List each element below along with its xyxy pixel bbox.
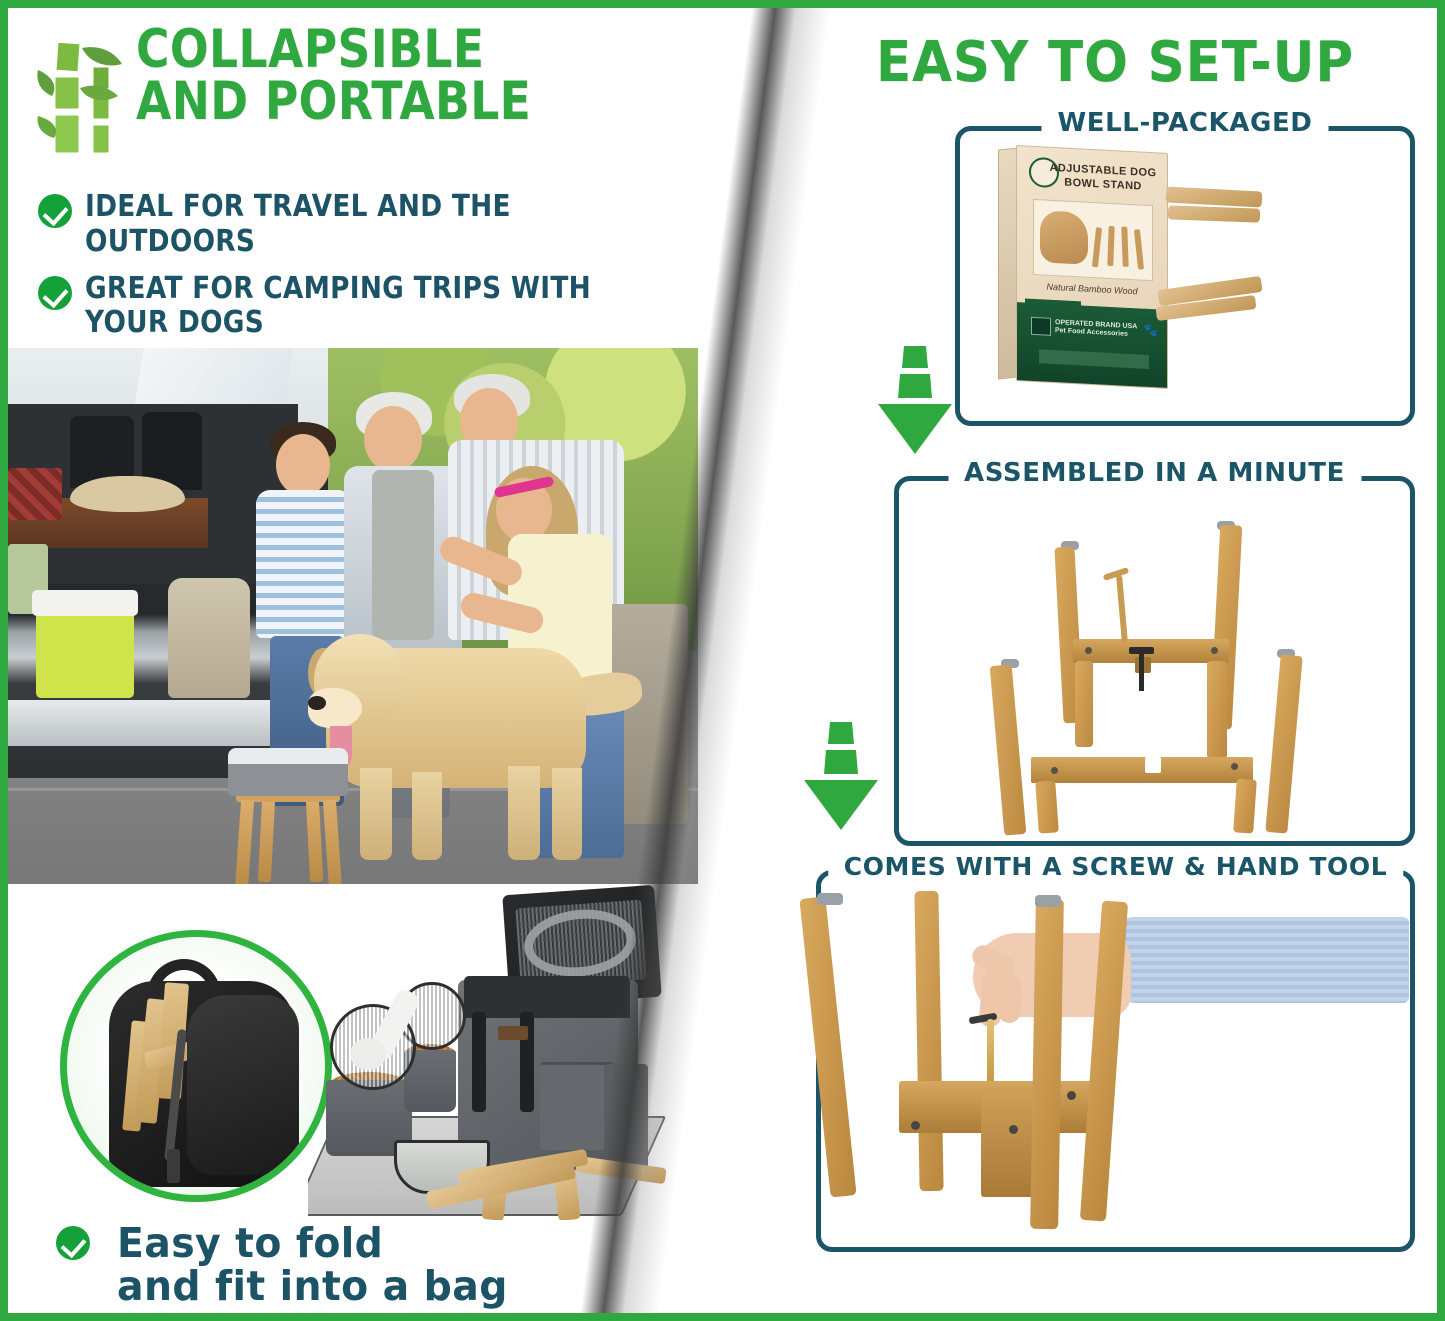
travel-bag-handle [472,1012,486,1112]
step-box-well-packaged: WELL-PACKAGED ADJUSTABLE DOG BOWL STAND [955,126,1415,426]
right-panel: EASY TO SET-UP WELL-PACKAGED ADJUSTABLE … [708,8,1437,1313]
bamboo-leg [990,664,1027,835]
photo-duffel-bag [168,578,250,698]
check-circle-icon [38,194,72,228]
bamboo-leg [1207,661,1227,759]
photo-boy-shirt [256,490,352,638]
photo-plaid-blanket [8,468,62,520]
step-box-assembled: ASSEMBLED IN A MINUTE [894,476,1415,846]
brand-logo-icon [1031,317,1051,336]
product-box-front: ADJUSTABLE DOG BOWL STAND Natural Bamboo… [1016,145,1168,389]
product-box-photo [1033,199,1153,281]
leg-cap [1035,895,1061,907]
photo-dog-leg [508,766,540,860]
travel-bag-opening [464,976,630,1018]
bamboo-leg [1233,778,1257,833]
step-label: COMES WITH A SCREW & HAND TOOL [828,852,1403,881]
photo-grandmother-head [364,406,422,472]
screw-hole [1009,1125,1018,1134]
travel-bag-photo [308,884,698,1220]
assembly-illustration [963,521,1363,831]
hand-assembly-illustration [821,891,1410,1245]
page-title: COLLAPSIBLE AND PORTABLE [136,24,531,128]
hand-finger [998,974,1022,1023]
photo-dog-leg [552,768,582,860]
photo-stainless-dog-bowl [228,748,348,796]
step-label: ASSEMBLED IN A MINUTE [948,458,1361,488]
product-box-subtitle: Natural Bamboo Wood [1025,280,1159,297]
travel-bag-side-pocket [604,1064,648,1168]
bamboo-leg [1035,780,1059,833]
left-panel: COLLAPSIBLE AND PORTABLE IDEAL FOR TRAVE… [8,8,708,1313]
photo-dog-leg [360,768,392,860]
product-box-green-footer: OPERATED BRAND USA Pet Food Accessories … [1017,302,1167,388]
product-box-spine [998,148,1018,380]
photo-car-bumper [8,700,278,746]
screw-hole [1085,647,1092,654]
photo-dog-leg [412,772,442,860]
down-arrow-icon [804,722,878,832]
travel-bag-front-pocket [540,1062,614,1150]
rail-notch [1145,757,1161,773]
photo-straw-hat [70,476,185,512]
screw-hole [1231,763,1238,770]
paw-print-icon: 🐾 [1143,323,1157,338]
product-box-stand [1092,223,1144,272]
photo-cooler-lid [32,590,138,616]
blue-sweater-sleeve [1121,917,1409,1003]
check-circle-icon [38,276,72,310]
product-box-brand-line: OPERATED BRAND USA Pet Food Accessories [1055,319,1143,341]
backpack-flap [187,995,299,1175]
screw-hole [1067,1091,1076,1100]
right-panel-title: EASY TO SET-UP [876,30,1354,95]
photo-dog-nose [308,696,326,710]
list-item: GREAT FOR CAMPING TRIPS WITH YOUR DOGS [38,272,698,342]
page-frame: COLLAPSIBLE AND PORTABLE IDEAL FOR TRAVE… [0,0,1445,1321]
flat-packed-bamboo-piece [1168,205,1260,222]
product-box-title: ADJUSTABLE DOG BOWL STAND [1047,162,1159,195]
backpack-inset-photo [60,930,332,1202]
down-arrow-icon [878,346,952,456]
bamboo-leg [1030,899,1064,1229]
product-box-dog [1040,210,1088,265]
bullet-label: GREAT FOR CAMPING TRIPS WITH YOUR DOGS [85,272,591,342]
bamboo-stalks-icon [36,34,128,162]
backpack-zipper-pull [167,1149,180,1183]
bottom-caption-block: Easy to fold and fit into a bag [56,1222,524,1309]
bamboo-leg [1075,661,1093,747]
family-lifestyle-photo [8,348,698,888]
screw-icon [1139,651,1144,691]
step-label: WELL-PACKAGED [1042,108,1329,138]
hex-key-icon [1116,575,1128,643]
screw-hole [1211,647,1218,654]
food-scoop-cup [350,1038,386,1070]
cross-rail [1031,757,1253,783]
infographic-canvas: COLLAPSIBLE AND PORTABLE IDEAL FOR TRAVE… [8,8,1437,1313]
bullet-label: IDEAL FOR TRAVEL AND THE OUTDOORS [85,190,624,260]
photo-boy-head [276,434,330,496]
product-retail-box: ADJUSTABLE DOG BOWL STAND Natural Bamboo… [1016,145,1168,389]
product-box-barcode-strip [1039,349,1149,369]
bottom-caption-label: Easy to fold and fit into a bag [117,1222,508,1309]
photo-grandmother-vest [372,470,434,640]
bamboo-leg [1265,654,1302,833]
feature-bullet-list: IDEAL FOR TRAVEL AND THE OUTDOORS GREAT … [38,190,698,353]
step-box-screw-and-tool: COMES WITH A SCREW & HAND TOOL [816,870,1415,1252]
headline-block: COLLAPSIBLE AND PORTABLE [36,24,596,162]
screw-hole [1051,767,1058,774]
travel-bag-logo-tag [498,1026,528,1040]
list-item: IDEAL FOR TRAVEL AND THE OUTDOORS [38,190,698,260]
leg-cap [817,893,843,905]
bamboo-leg [799,896,856,1197]
flat-packed-bamboo-piece [1166,186,1263,207]
check-circle-icon [56,1226,90,1260]
bamboo-leg [914,891,943,1191]
screw-hole [911,1121,920,1130]
